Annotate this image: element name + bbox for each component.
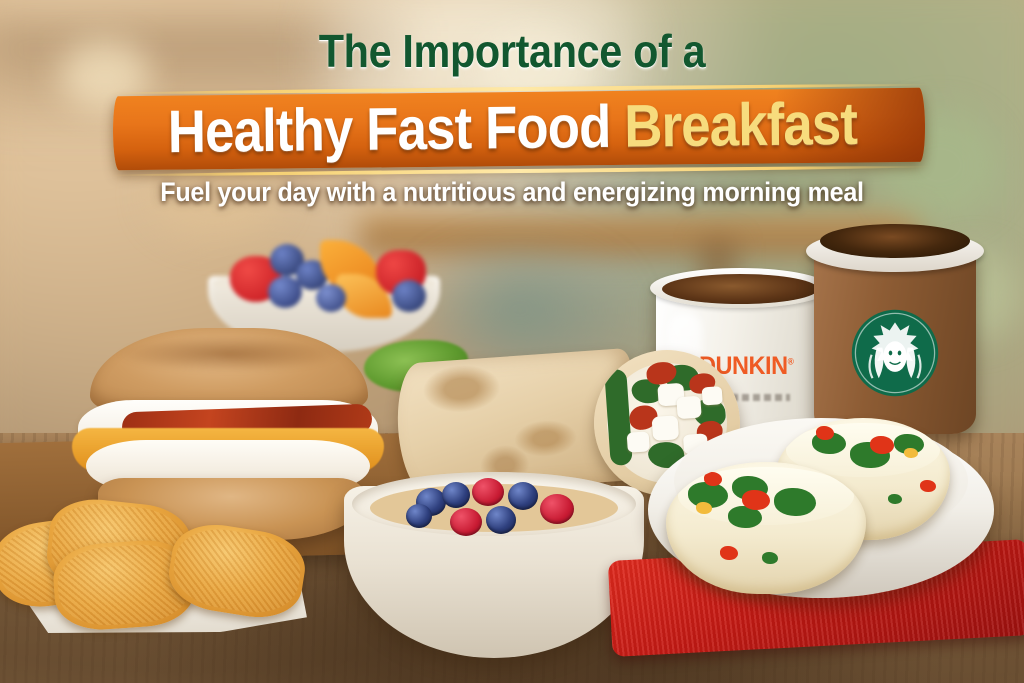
dunkin-trademark-symbol: ® [788,357,794,367]
raspberry [540,494,574,524]
red-pepper-speck [920,480,936,492]
oatmeal-bowl [344,464,644,660]
blueberry [406,504,432,528]
dunkin-coffee-surface [662,274,818,304]
starbucks-coffee-surface [820,224,970,258]
spinach-speck [888,494,902,504]
raspberry [472,478,504,506]
spinach-speck [774,488,816,516]
starbucks-siren-logo [850,308,940,398]
blueberry [316,284,346,312]
breakfast-poster: DUNKIN® [0,0,1024,683]
red-pepper-speck [870,436,894,454]
raspberry [450,508,482,536]
red-pepper-speck [742,490,770,510]
title-block: The Importance of a Healthy Fast Food Br… [0,0,1024,76]
red-pepper-speck [704,472,722,486]
blueberry [392,280,426,312]
hash-brown-patties [0,486,324,636]
subheadline: Fuel your day with a nutritious and ener… [36,0,988,208]
blueberry [508,482,538,510]
blueberry [486,506,516,534]
egg-white-bites-plate [648,400,994,632]
red-pepper-speck [720,546,738,560]
spinach-speck [762,552,778,564]
cheese-speck [904,448,918,458]
cheese-speck [696,502,712,514]
red-pepper-speck [816,426,834,440]
blueberry [268,276,302,308]
egg-bite-front [666,462,866,594]
blueberry [442,482,470,508]
feta-crumble [627,431,650,452]
